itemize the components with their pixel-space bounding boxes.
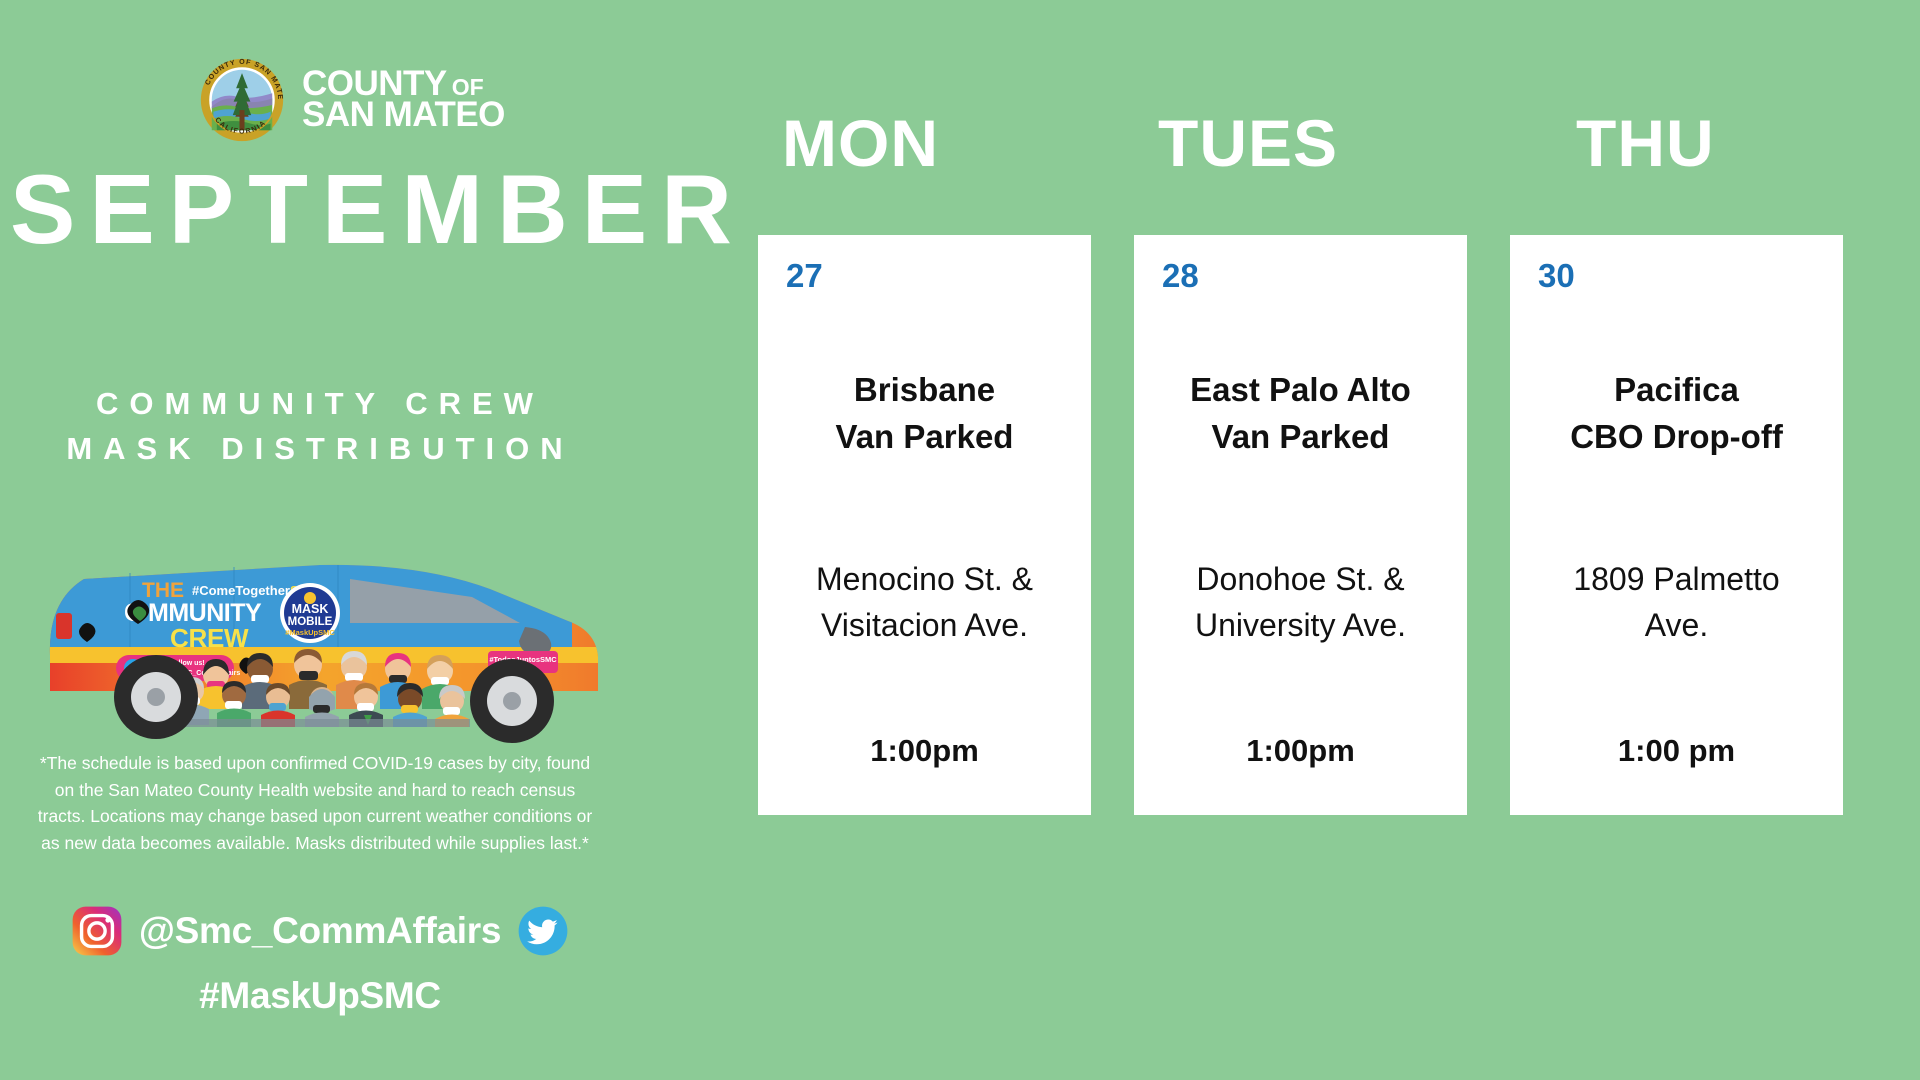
county-logo-lockup: COUNTY OF SAN MATEO CALIFORNIA COUNTY OF… [200, 58, 505, 142]
card-time-thu: 1:00 pm [1516, 735, 1837, 766]
card-date-thu: 30 [1538, 259, 1575, 292]
van-headline-crew: CREW [170, 623, 249, 653]
svg-text:#MaskUpSMC: #MaskUpSMC [285, 628, 335, 637]
card-location-thu: PacificaCBO Drop-off [1516, 367, 1837, 461]
card-date-tues: 28 [1162, 259, 1199, 292]
day-header-mon: MON [758, 110, 1091, 176]
van-wheel-front [470, 659, 554, 743]
card-time-mon: 1:00pm [764, 735, 1085, 766]
logo-san-mateo-text: SAN MATEO [302, 100, 505, 131]
card-address-tues: Donohoe St. &University Ave. [1140, 557, 1461, 649]
card-location-tues: East Palo AltoVan Parked [1140, 367, 1461, 461]
month-title: SEPTEMBER [10, 160, 770, 258]
svg-text:MASK: MASK [292, 602, 329, 616]
schedule-column-mon: MON 27 BrisbaneVan Parked Menocino St. &… [758, 0, 1091, 1080]
schedule-card-mon[interactable]: 27 BrisbaneVan Parked Menocino St. &Visi… [758, 235, 1091, 815]
twitter-icon[interactable] [517, 905, 569, 957]
schedule-column-tues: TUES 28 East Palo AltoVan Parked Donohoe… [1134, 0, 1467, 1080]
van-wheel-rear [114, 655, 198, 739]
card-address-thu: 1809 PalmettoAve. [1516, 557, 1837, 649]
county-wordmark: COUNTY OF SAN MATEO [302, 69, 505, 131]
card-address-mon: Menocino St. &Visitacion Ave. [764, 557, 1085, 649]
card-location-mon: BrisbaneVan Parked [764, 367, 1085, 461]
social-handles-row: @Smc_CommAffairs [0, 905, 640, 957]
schedule-card-tues[interactable]: 28 East Palo AltoVan Parked Donohoe St. … [1134, 235, 1467, 815]
weekly-schedule: MON 27 BrisbaneVan Parked Menocino St. &… [760, 0, 1920, 1080]
schedule-column-thu: THU 30 PacificaCBO Drop-off 1809 Palmett… [1510, 0, 1843, 1080]
mask-mobile-badge: MASK MOBILE #MaskUpSMC [280, 583, 340, 643]
county-seal-icon: COUNTY OF SAN MATEO CALIFORNIA [200, 58, 284, 142]
hashtag-text: #MaskUpSMC [0, 975, 640, 1017]
schedule-disclaimer: *The schedule is based upon confirmed CO… [30, 750, 600, 856]
card-date-mon: 27 [786, 259, 823, 292]
day-header-tues: TUES [1134, 110, 1467, 176]
instagram-icon[interactable] [71, 905, 123, 957]
day-header-thu: THU [1510, 110, 1843, 176]
card-time-tues: 1:00pm [1140, 735, 1461, 766]
left-info-panel: COUNTY OF SAN MATEO CALIFORNIA COUNTY OF… [0, 0, 760, 1080]
social-handle-text: @Smc_CommAffairs [139, 910, 501, 952]
schedule-card-thu[interactable]: 30 PacificaCBO Drop-off 1809 PalmettoAve… [1510, 235, 1843, 815]
program-subtitle: COMMUNITY CREWMASK DISTRIBUTION [0, 382, 640, 472]
svg-text:MOBILE: MOBILE [288, 616, 333, 628]
mask-mobile-van-illustration: THE #ComeTogetherSMC C MMUNITY CREW MASK… [20, 505, 630, 745]
